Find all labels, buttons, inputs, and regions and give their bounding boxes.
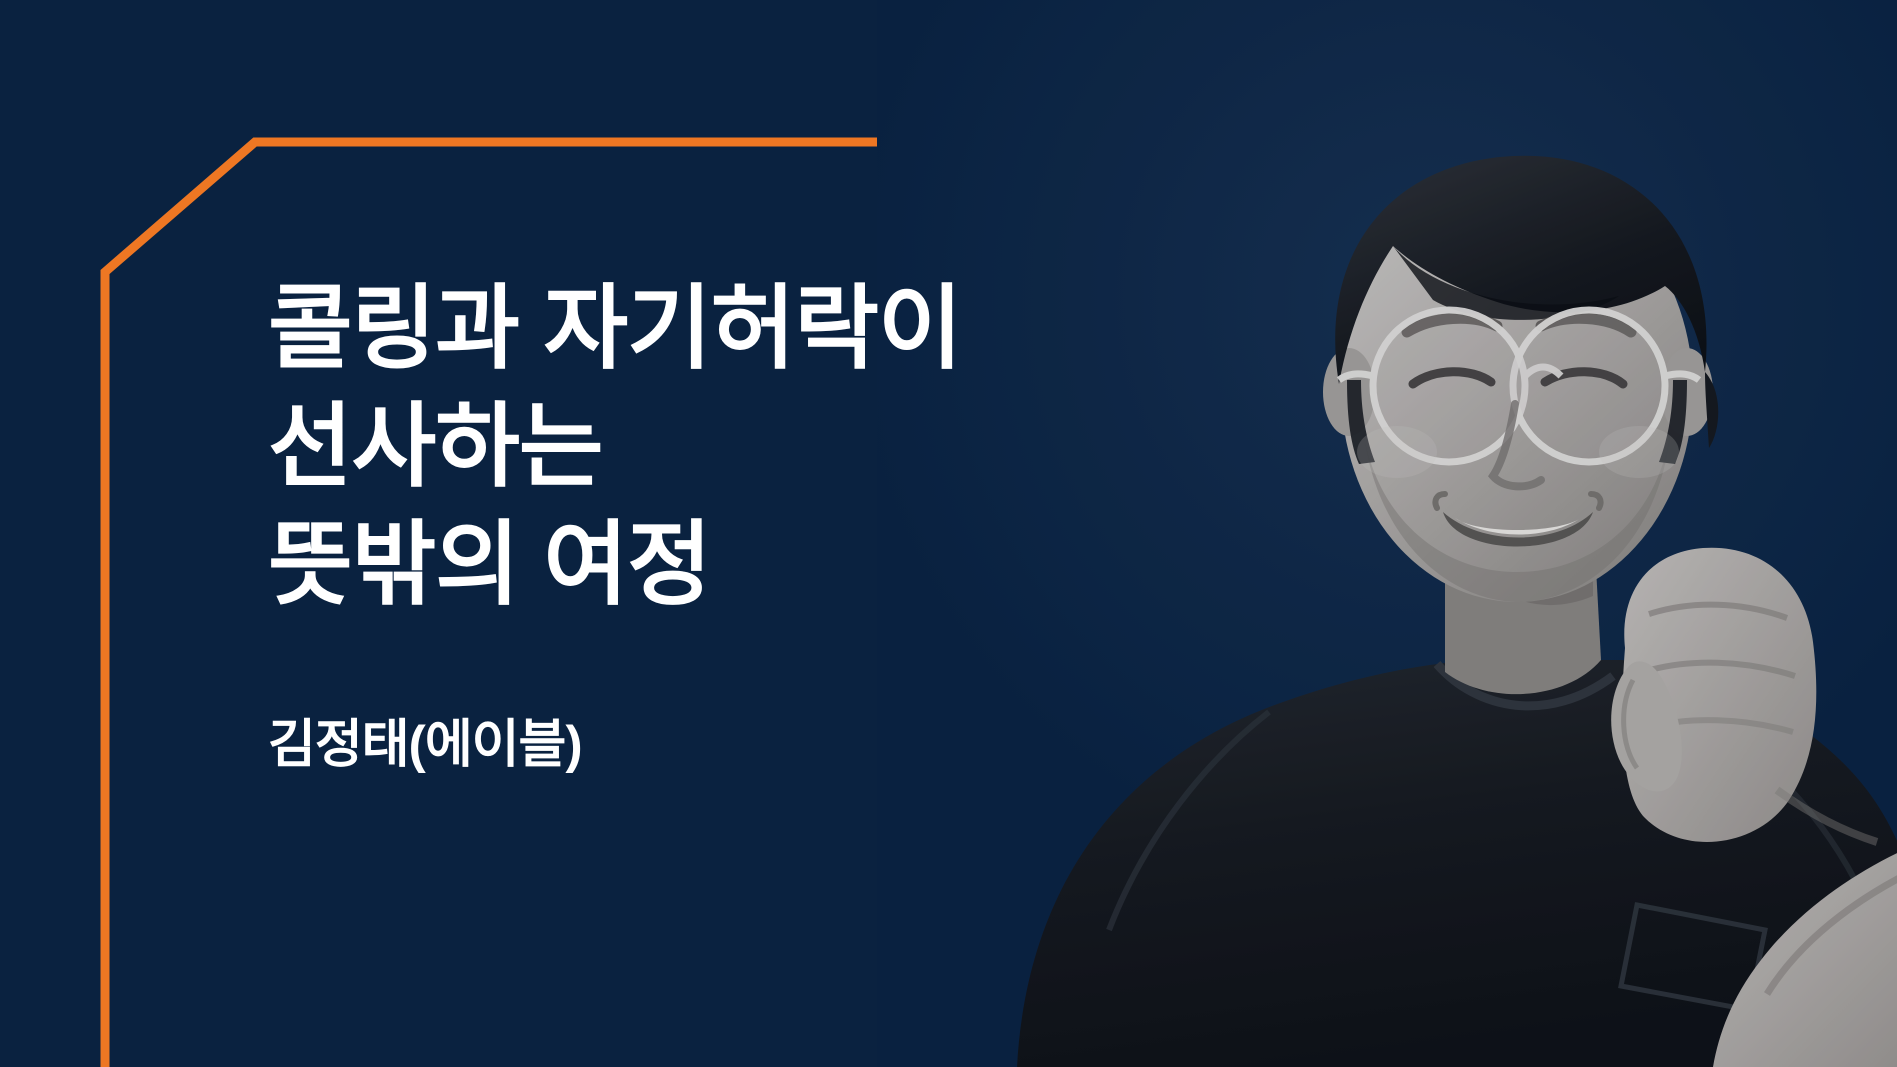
speaker-name: 김정태(에이블)	[268, 702, 1268, 777]
title-line-2: 선사하는	[268, 388, 1268, 506]
title-line-3: 뜻밖의 여정	[268, 506, 1268, 624]
slide-text-block: 콜링과 자기허락이 선사하는 뜻밖의 여정 김정태(에이블)	[268, 270, 1268, 777]
title-line-1: 콜링과 자기허락이	[268, 270, 1268, 388]
presentation-slide: 콜링과 자기허락이 선사하는 뜻밖의 여정 김정태(에이블)	[0, 0, 1897, 1067]
